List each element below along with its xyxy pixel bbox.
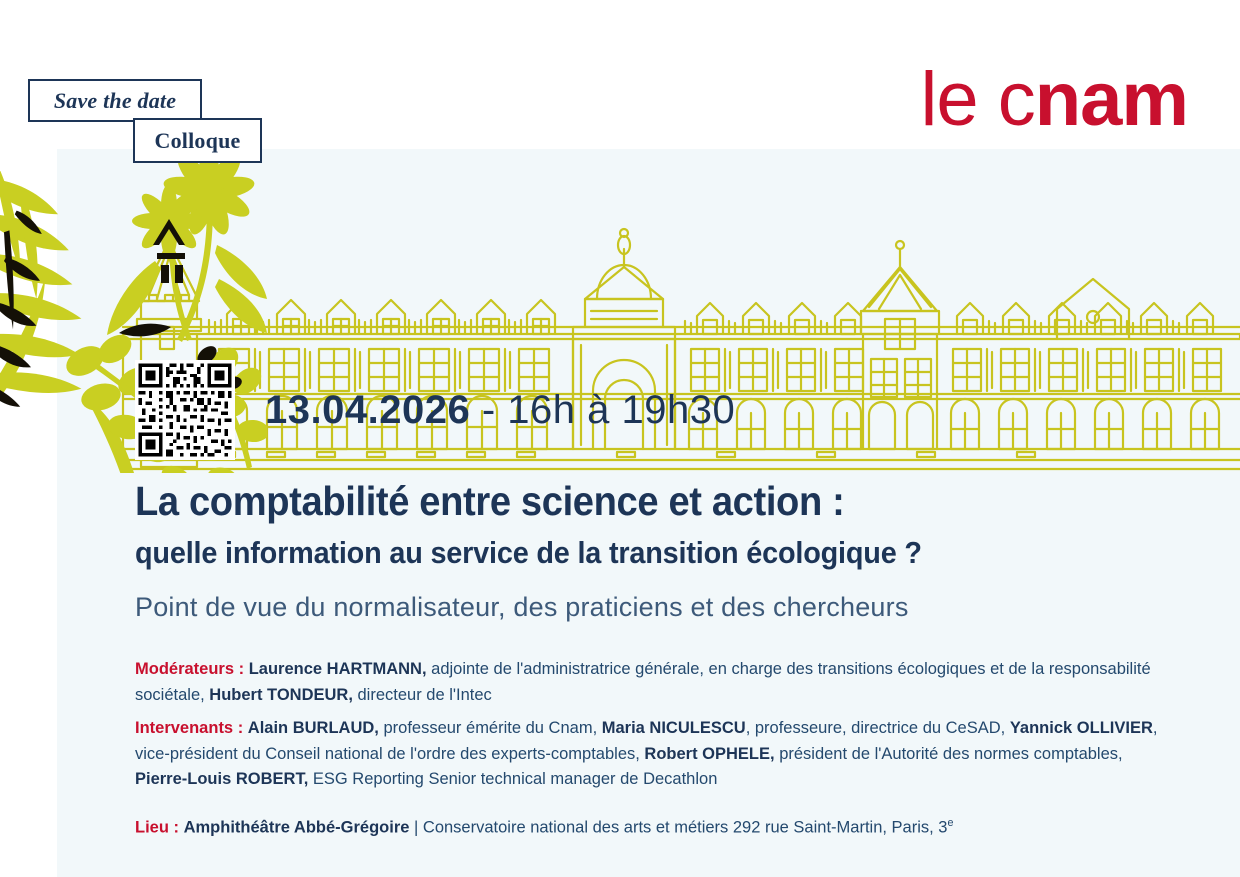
page-subtitle: quelle information au service de la tran… [135,535,1125,571]
colloque-badge: Colloque [133,118,262,163]
speaker-role-4: ESG Reporting Senior technical manager d… [308,770,717,788]
venue-label: Lieu : [135,818,179,836]
page-tagline: Point de vue du normalisateur, des prati… [135,591,1200,623]
event-time: 16h à 19h30 [507,388,735,432]
speakers-label: Intervenants : [135,719,243,737]
speaker-name-2: Yannick OLLIVIER [1010,719,1153,737]
moderators-label: Modérateurs : [135,660,244,678]
cnam-logo-light: le c [920,57,1034,142]
poster: Save the date Colloque le cnam [0,0,1240,877]
participants-block: Modérateurs : Laurence HARTMANN, adjoint… [135,657,1165,793]
page-title: La comptabilité entre science et action … [135,478,1125,525]
date-row: 13.04.2026 - 16h à 19h30 [135,360,1200,460]
moderator-name-1: Hubert TONDEUR, [209,686,353,704]
qr-code-svg [135,360,235,460]
venue-address-superscript: e [947,817,953,829]
speaker-name-4: Pierre-Louis ROBERT, [135,770,308,788]
qr-code-icon[interactable] [135,360,235,460]
save-the-date-label: Save the date [54,88,176,114]
venue-line: Lieu : Amphithéâtre Abbé-Grégoire | Cons… [135,815,1200,840]
speaker-role-1: , professeure, directrice du CeSAD, [746,719,1010,737]
moderator-name-0: Laurence HARTMANN, [249,660,427,678]
event-time-separator: - [470,388,507,432]
event-date: 13.04.2026 [265,388,470,432]
poster-content: 13.04.2026 - 16h à 19h30 La comptabilité… [135,360,1200,840]
speaker-name-3: Robert OPHELE, [644,745,774,763]
speaker-name-0: Alain BURLAUD, [248,719,379,737]
speaker-role-3: président de l'Autorité des normes compt… [775,745,1123,763]
speaker-name-1: Maria NICULESCU [602,719,746,737]
foliage-left-icon [0,160,121,425]
event-datetime: 13.04.2026 - 16h à 19h30 [265,388,735,433]
venue-address: Conservatoire national des arts et métie… [423,818,948,836]
venue-separator: | [409,818,422,836]
save-the-date-badge: Save the date [28,79,202,122]
cnam-logo[interactable]: le cnam [920,62,1188,138]
speakers-line: Intervenants : Alain BURLAUD, professeur… [135,716,1165,793]
speaker-role-0: professeur émérite du Cnam, [379,719,602,737]
cnam-logo-bold: nam [1035,57,1188,142]
moderator-role-1: directeur de l'Intec [353,686,492,704]
venue-name: Amphithéâtre Abbé-Grégoire [184,818,410,836]
colloque-label: Colloque [155,128,241,154]
moderators-line: Modérateurs : Laurence HARTMANN, adjoint… [135,657,1165,708]
